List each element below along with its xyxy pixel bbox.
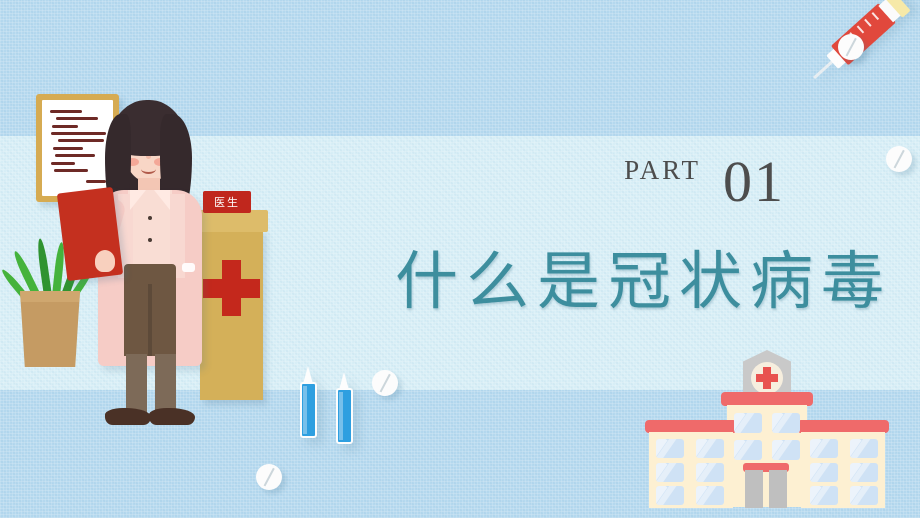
slide-canvas: 医生 xyxy=(0,0,920,518)
pill-top-corner xyxy=(838,34,864,60)
slide-text-block: PART01 什么是冠状病毒 xyxy=(395,148,825,322)
pill-center xyxy=(372,370,398,396)
pill-bottom-left xyxy=(256,464,282,490)
window xyxy=(656,463,684,482)
hospital-building xyxy=(645,350,920,518)
thermometer-right xyxy=(336,372,353,444)
plant-pot xyxy=(20,291,80,367)
window xyxy=(772,413,800,433)
window xyxy=(772,440,800,460)
window xyxy=(850,486,878,505)
window xyxy=(696,439,724,458)
part-label: PART xyxy=(624,155,701,185)
window xyxy=(696,486,724,505)
window xyxy=(810,439,838,458)
cabinet-sign-label: 医生 xyxy=(214,194,240,210)
doctor-illustration: 医生 xyxy=(0,78,300,423)
window xyxy=(850,463,878,482)
entrance-column-left xyxy=(745,470,763,508)
window xyxy=(734,440,762,460)
plant-pot-rim xyxy=(20,291,80,302)
page-title: 什么是冠状病毒 xyxy=(395,231,825,322)
part-number: 01 xyxy=(723,149,785,214)
window xyxy=(656,486,684,505)
window xyxy=(810,463,838,482)
window xyxy=(656,439,684,458)
whiteboard-paper xyxy=(42,100,113,196)
hospital-cross-horizontal xyxy=(756,374,778,382)
cabinet-cross-horizontal xyxy=(203,279,260,298)
window xyxy=(696,463,724,482)
section-label-line: PART01 xyxy=(395,148,825,215)
cabinet-sign: 医生 xyxy=(203,191,251,213)
window xyxy=(850,439,878,458)
center-roof xyxy=(721,392,813,406)
window xyxy=(810,486,838,505)
window xyxy=(734,413,762,433)
thermometer-left xyxy=(300,366,317,438)
shoe-right xyxy=(149,408,195,425)
arm-bandage xyxy=(182,263,195,272)
shoe-left xyxy=(105,408,151,425)
hand-left xyxy=(95,250,115,272)
entrance-column-right xyxy=(769,470,787,508)
pill-top-right xyxy=(886,146,912,172)
